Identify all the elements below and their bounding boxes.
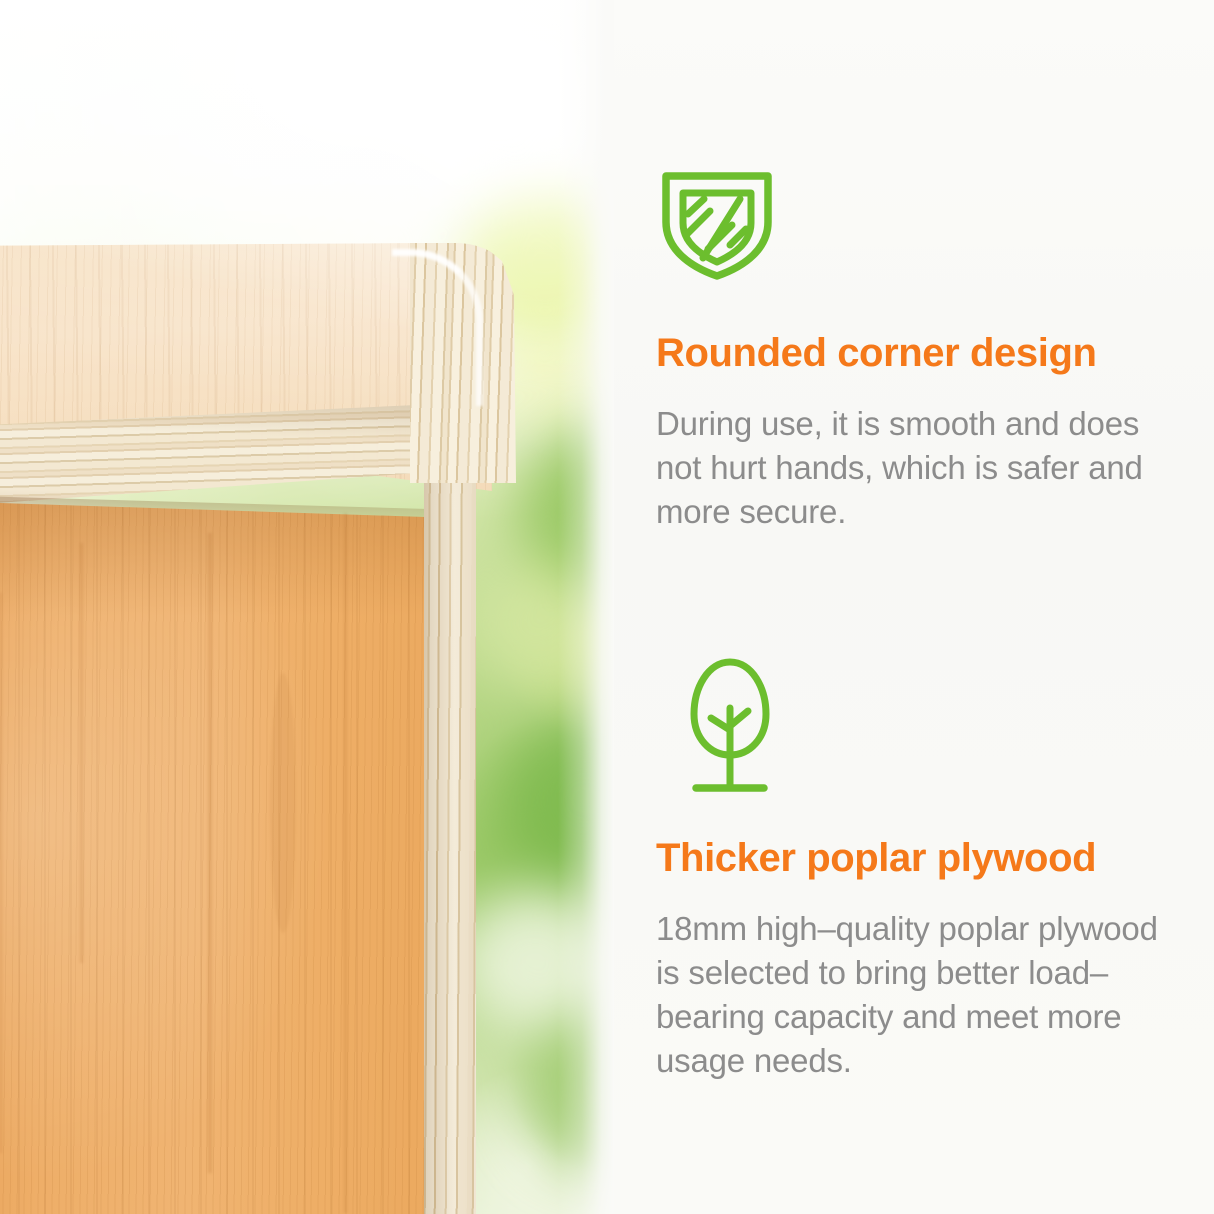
wood-grain-streak xyxy=(208,533,212,1173)
product-photo xyxy=(0,0,614,1214)
wood-grain-streak xyxy=(80,543,83,963)
tree-icon xyxy=(682,656,1186,808)
feature-text-panel: Rounded corner design During use, it is … xyxy=(614,0,1214,1214)
feature-description: 18mm high–quality poplar plywood is sele… xyxy=(656,907,1176,1083)
rounded-corner-board xyxy=(410,243,530,483)
product-feature-graphic: Rounded corner design During use, it is … xyxy=(0,0,1214,1214)
wood-grain-streak xyxy=(0,593,2,1153)
wood-grain-knot xyxy=(270,673,296,933)
feature-title: Thicker poplar plywood xyxy=(656,836,1186,881)
feature-description: During use, it is smooth and does not hu… xyxy=(656,402,1176,534)
feature-block-rounded-corner: Rounded corner design During use, it is … xyxy=(656,166,1186,534)
feature-block-poplar-plywood: Thicker poplar plywood 18mm high–quality… xyxy=(656,656,1186,1083)
side-board-ply-stack xyxy=(424,457,526,1214)
feature-title: Rounded corner design xyxy=(656,331,1186,376)
cabinet-interior-panel xyxy=(0,501,475,1214)
wood-grain-streak xyxy=(344,513,347,1213)
shield-leaf-icon xyxy=(658,166,1186,288)
plywood-cabinet xyxy=(0,243,540,1214)
